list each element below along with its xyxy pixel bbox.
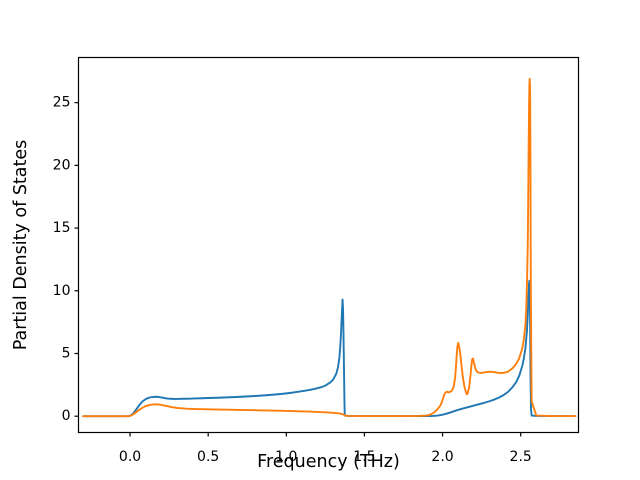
y-tick-label: 0 xyxy=(62,408,71,424)
x-tick-label: 0.5 xyxy=(197,449,219,465)
x-tick-label: 0.0 xyxy=(119,449,141,465)
y-tick-label: 5 xyxy=(62,345,71,361)
pdos-line-chart: 0.00.51.01.52.02.50510152025Frequency (T… xyxy=(0,0,640,480)
chart-figure: 0.00.51.01.52.02.50510152025Frequency (T… xyxy=(0,0,640,480)
y-tick-label: 15 xyxy=(53,220,71,236)
x-axis-label: Frequency (THz) xyxy=(257,452,400,472)
y-tick-label: 25 xyxy=(53,95,71,111)
y-tick-label: 10 xyxy=(53,283,71,299)
y-axis-label: Partial Density of States xyxy=(11,140,31,351)
plot-area-background xyxy=(79,58,579,433)
x-tick-label: 2.0 xyxy=(431,449,453,465)
x-tick-label: 2.5 xyxy=(510,449,532,465)
y-tick-label: 20 xyxy=(53,157,71,173)
